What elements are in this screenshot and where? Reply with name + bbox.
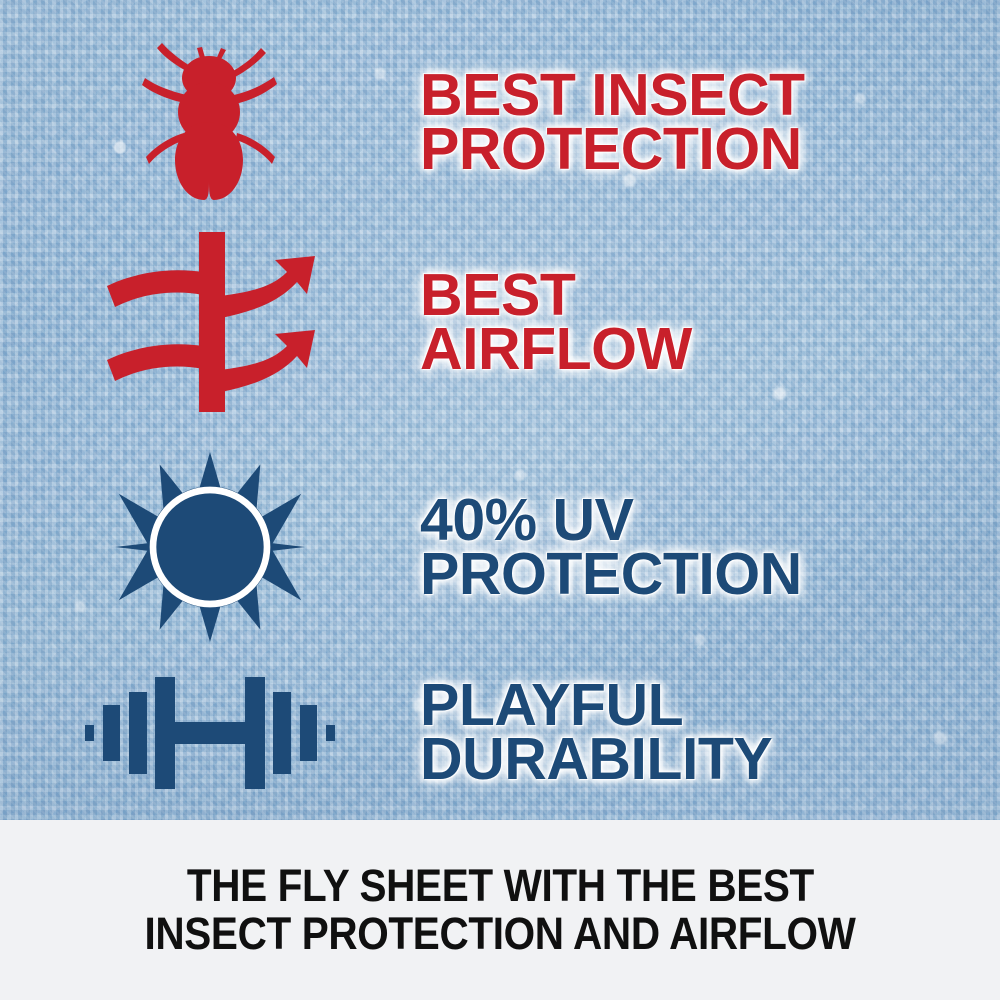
- feature-text-cell: PLAYFUL DURABILITY: [420, 678, 1000, 787]
- feature-line: PROTECTION: [420, 547, 1000, 601]
- feature-list: BEST INSECT PROTECTION: [0, 0, 1000, 820]
- feature-text-cell: BEST INSECT PROTECTION: [420, 68, 1000, 177]
- caption-bar: THE FLY SHEET WITH THE BEST INSECT PROTE…: [0, 820, 1000, 1000]
- feature-row-uv-protection: 40% UV PROTECTION: [0, 452, 1000, 642]
- feature-line: BEST: [420, 268, 1000, 322]
- product-feature-poster: BEST INSECT PROTECTION: [0, 0, 1000, 1000]
- feature-line: DURABILITY: [420, 732, 1000, 786]
- feature-text-cell: BEST AIRFLOW: [420, 268, 1000, 377]
- feature-icon-cell: [0, 452, 420, 642]
- feature-text-cell: 40% UV PROTECTION: [420, 493, 1000, 602]
- dumbbell-icon: [85, 667, 335, 797]
- feature-row-insect-protection: BEST INSECT PROTECTION: [0, 42, 1000, 202]
- feature-row-airflow: BEST AIRFLOW: [0, 232, 1000, 412]
- feature-icon-cell: [0, 40, 420, 205]
- sun-uv-icon: [115, 452, 305, 642]
- feature-icon-cell: [0, 232, 420, 412]
- feature-icon-cell: [0, 667, 420, 797]
- feature-line: BEST INSECT: [420, 68, 1000, 122]
- feature-row-durability: PLAYFUL DURABILITY: [0, 652, 1000, 812]
- caption-line: INSECT PROTECTION AND AIRFLOW: [144, 910, 855, 958]
- fly-icon: [135, 40, 285, 205]
- feature-line: PROTECTION: [420, 122, 1000, 176]
- feature-line: 40% UV: [420, 493, 1000, 547]
- feature-line: AIRFLOW: [420, 322, 1000, 376]
- caption-line: THE FLY SHEET WITH THE BEST: [186, 862, 813, 910]
- airflow-icon: [103, 232, 318, 412]
- feature-line: PLAYFUL: [420, 678, 1000, 732]
